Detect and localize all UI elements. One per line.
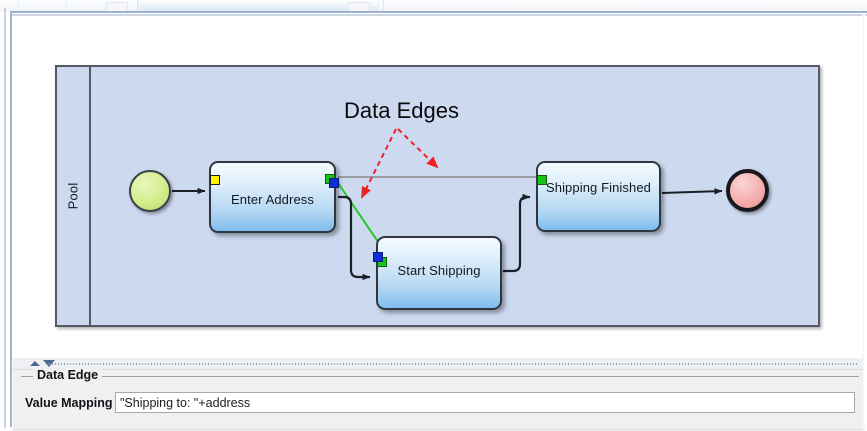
annotation-label-data-edges: Data Edges <box>344 98 459 124</box>
editor-tab-active[interactable] <box>138 0 380 11</box>
triangle-up-icon[interactable] <box>30 361 40 366</box>
properties-panel: Data Edge Value Mapping <box>13 369 863 430</box>
task-label-start-shipping: Start Shipping <box>397 263 480 278</box>
diagram-canvas[interactable]: Pool <box>13 17 863 355</box>
application-window: Pool <box>0 0 867 431</box>
task-label-shipping-finished: Shipping Finished <box>546 180 651 195</box>
editor-tab-4[interactable] <box>378 0 384 11</box>
splitter-grip[interactable] <box>49 363 859 365</box>
window-inner-top-edge <box>12 14 867 16</box>
window-top-edge <box>10 11 867 13</box>
editor-tab-1[interactable] <box>18 0 68 11</box>
end-event-node[interactable] <box>726 169 769 212</box>
properties-group-title: Data Edge <box>33 368 102 382</box>
task-node-start-shipping[interactable]: Start Shipping <box>376 236 502 310</box>
editor-tab-2[interactable] <box>66 0 110 11</box>
task-node-enter-address[interactable]: Enter Address <box>209 161 336 233</box>
task-node-shipping-finished[interactable]: Shipping Finished <box>536 161 661 232</box>
window-inner-left-edge <box>10 11 12 427</box>
data-port-icon[interactable] <box>329 178 339 188</box>
value-mapping-input[interactable] <box>115 392 855 413</box>
input-data-port-icon[interactable] <box>537 175 547 185</box>
window-left-edge <box>4 8 6 428</box>
pool-label: Pool <box>66 183 81 210</box>
input-port-icon[interactable] <box>210 175 220 185</box>
data-port-icon[interactable] <box>373 252 383 262</box>
start-event-node[interactable] <box>129 170 171 212</box>
task-label-enter-address: Enter Address <box>231 192 314 207</box>
value-mapping-label: Value Mapping <box>25 396 113 410</box>
pool-header: Pool <box>57 67 91 325</box>
